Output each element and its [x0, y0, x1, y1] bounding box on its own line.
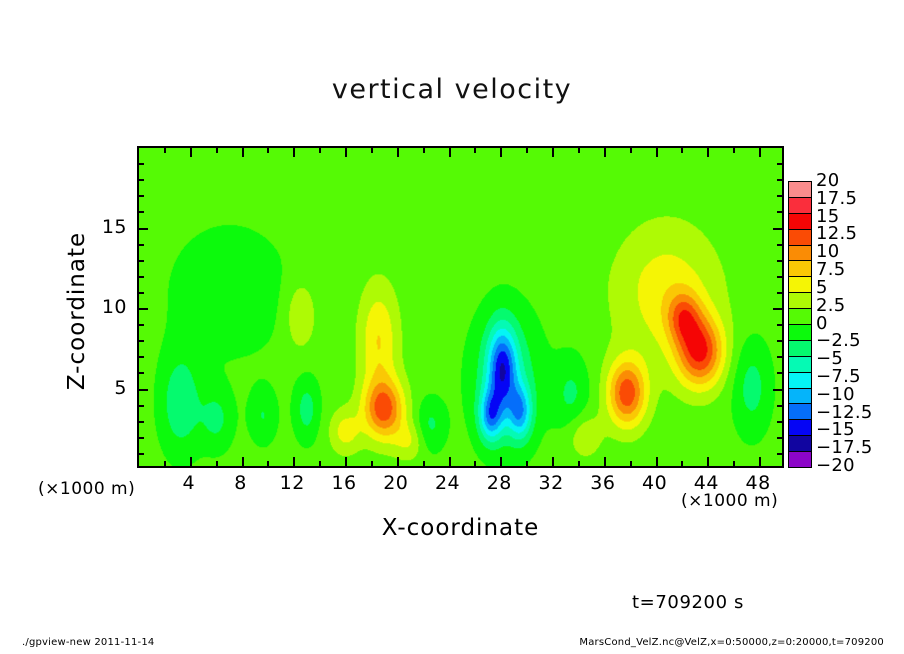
colorbar-band — [789, 309, 811, 325]
y-axis-title: Z-coordinate — [64, 196, 90, 426]
z-tick-label: 10 — [85, 296, 127, 318]
z-tick — [777, 260, 782, 262]
x-tick — [604, 148, 606, 157]
x-tick — [267, 461, 269, 466]
z-tick — [139, 276, 144, 278]
colorbar-band — [789, 325, 811, 341]
colorbar-band — [789, 246, 811, 262]
colorbar-band — [789, 389, 811, 405]
z-tick-label: 5 — [85, 377, 127, 399]
z-tick — [777, 292, 782, 294]
colorbar-band — [789, 198, 811, 214]
x-tick — [371, 148, 373, 153]
x-axis-title: X-coordinate — [137, 515, 784, 541]
x-tick — [733, 461, 735, 466]
colorbar[interactable] — [788, 181, 812, 468]
x-tick — [319, 148, 321, 153]
z-tick — [139, 179, 144, 181]
x-tick — [190, 148, 192, 157]
x-tick — [681, 148, 683, 153]
x-tick — [267, 148, 269, 153]
colorbar-band — [789, 182, 811, 198]
z-tick — [139, 244, 144, 246]
z-tick-label: 15 — [85, 216, 127, 238]
z-tick — [139, 308, 148, 310]
x-tick — [216, 461, 218, 466]
x-tick — [578, 461, 580, 466]
z-tick — [139, 228, 148, 230]
x-tick — [656, 457, 658, 466]
x-tick — [526, 461, 528, 466]
z-tick — [773, 308, 782, 310]
z-tick — [777, 179, 782, 181]
x-tick — [759, 457, 761, 466]
z-tick — [139, 340, 144, 342]
colorbar-band — [789, 436, 811, 452]
x-tick — [293, 148, 295, 157]
x-tick — [242, 148, 244, 157]
z-tick — [139, 421, 144, 423]
x-tick — [630, 461, 632, 466]
x-tick — [656, 148, 658, 157]
z-tick — [777, 437, 782, 439]
z-tick — [139, 324, 144, 326]
x-units-right-label: (×1000 m) — [681, 491, 778, 511]
z-tick — [777, 276, 782, 278]
x-tick — [733, 148, 735, 153]
vertical-velocity-field — [139, 148, 782, 466]
z-tick — [777, 211, 782, 213]
x-tick — [526, 148, 528, 153]
x-tick — [397, 457, 399, 466]
x-tick — [707, 457, 709, 466]
colorbar-band — [789, 341, 811, 357]
colorbar-band — [789, 261, 811, 277]
colorbar-label: −20 — [816, 457, 855, 475]
z-tick — [777, 405, 782, 407]
z-tick — [139, 405, 144, 407]
x-tick — [552, 148, 554, 157]
z-tick — [777, 356, 782, 358]
z-tick — [139, 292, 144, 294]
z-tick — [139, 453, 144, 455]
colorbar-band — [789, 420, 811, 436]
colorbar-band — [789, 214, 811, 230]
x-tick — [449, 457, 451, 466]
x-tick — [474, 148, 476, 153]
colorbar-band — [789, 293, 811, 309]
z-tick — [139, 195, 144, 197]
z-tick — [139, 260, 144, 262]
x-tick — [345, 148, 347, 157]
x-tick — [681, 461, 683, 466]
x-tick — [345, 457, 347, 466]
z-tick — [777, 324, 782, 326]
x-tick — [474, 461, 476, 466]
colorbar-band — [789, 230, 811, 246]
z-tick — [139, 211, 144, 213]
z-tick — [139, 372, 144, 374]
x-tick — [552, 457, 554, 466]
z-tick — [139, 163, 144, 165]
footer-source-label: MarsCond_VelZ.nc@VelZ,x=0:50000,z=0:2000… — [579, 637, 884, 648]
x-tick — [449, 148, 451, 157]
z-tick — [139, 389, 148, 391]
x-tick — [164, 148, 166, 153]
footer-command-label: ./gpview-new 2011-11-14 — [22, 637, 154, 648]
x-tick — [371, 461, 373, 466]
x-tick — [190, 457, 192, 466]
z-tick — [773, 228, 782, 230]
colorbar-label: 2.5 — [816, 297, 846, 315]
colorbar-band — [789, 404, 811, 420]
z-tick — [777, 244, 782, 246]
x-tick — [293, 457, 295, 466]
x-tick — [578, 148, 580, 153]
x-tick — [500, 457, 502, 466]
z-tick — [777, 163, 782, 165]
z-tick — [777, 340, 782, 342]
x-tick — [423, 148, 425, 153]
page-title: vertical velocity — [0, 74, 904, 105]
x-tick — [397, 148, 399, 157]
z-tick — [139, 356, 144, 358]
z-tick — [777, 372, 782, 374]
x-tick — [319, 461, 321, 466]
x-tick — [759, 148, 761, 157]
contour-plot-area[interactable] — [137, 146, 784, 468]
x-tick — [707, 148, 709, 157]
x-tick — [500, 148, 502, 157]
x-units-left-label: (×1000 m) — [38, 479, 135, 499]
z-tick — [777, 453, 782, 455]
x-tick — [604, 457, 606, 466]
x-tick — [216, 148, 218, 153]
colorbar-band — [789, 452, 811, 467]
colorbar-band — [789, 277, 811, 293]
x-tick — [164, 461, 166, 466]
colorbar-band — [789, 357, 811, 373]
timestamp-label: t=709200 s — [632, 592, 744, 613]
x-tick — [630, 148, 632, 153]
colorbar-band — [789, 373, 811, 389]
z-tick — [773, 389, 782, 391]
z-tick — [139, 437, 144, 439]
z-tick — [777, 421, 782, 423]
x-tick — [242, 457, 244, 466]
x-tick — [423, 461, 425, 466]
z-tick — [777, 195, 782, 197]
colorbar-tick-labels: 2017.51512.5107.552.50−2.5−5−7.5−10−12.5… — [816, 181, 896, 466]
